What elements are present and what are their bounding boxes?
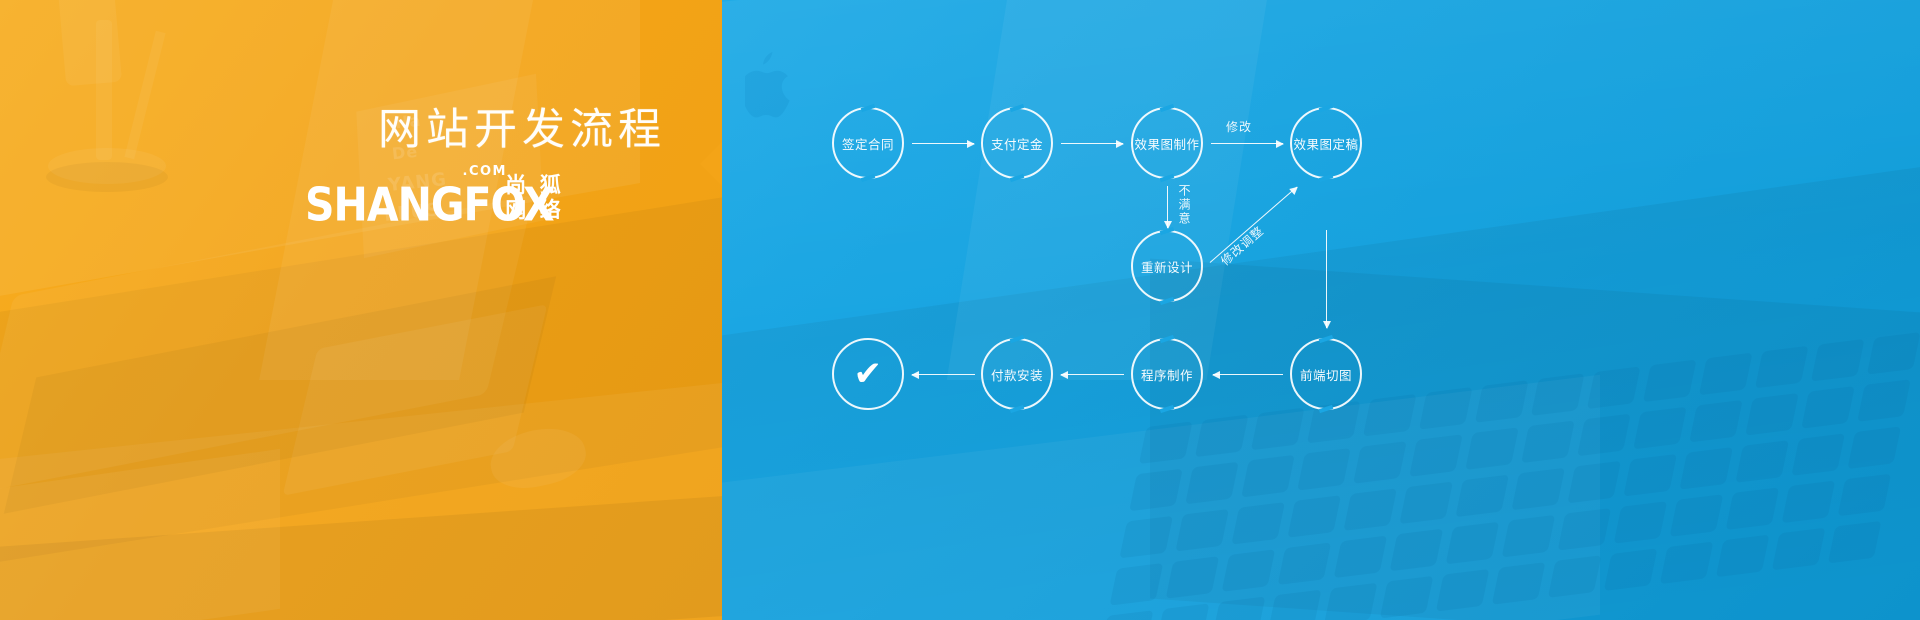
ring-gap bbox=[1010, 405, 1025, 413]
arrowhead-icon bbox=[967, 140, 975, 148]
flow-node-payment-install[interactable]: 付款安装 bbox=[981, 338, 1053, 410]
ring-gap bbox=[1010, 174, 1025, 182]
arrowhead-icon bbox=[1289, 183, 1300, 194]
flow-node-label: 前端切图 bbox=[1300, 365, 1352, 384]
ring-gap bbox=[1319, 335, 1334, 343]
flow-node-mockup-finalized[interactable]: 效果图定稿 bbox=[1290, 107, 1362, 179]
ring-gap bbox=[1010, 104, 1025, 112]
flow-node-complete[interactable]: ✔ bbox=[832, 338, 904, 410]
ring-gap bbox=[1319, 104, 1334, 112]
arrowhead-icon bbox=[1212, 371, 1220, 379]
flow-node-mockup-production[interactable]: 效果图制作 bbox=[1131, 107, 1203, 179]
ring-gap bbox=[1319, 405, 1334, 413]
arrow-design-to-redesign bbox=[1167, 186, 1168, 228]
check-icon: ✔ bbox=[854, 357, 883, 391]
flow-node-label: 效果图制作 bbox=[1134, 134, 1199, 153]
edge-label-unsatisfied: 不满意 bbox=[1176, 184, 1193, 226]
ring-gap bbox=[1010, 335, 1025, 343]
ring-gap bbox=[1160, 405, 1175, 413]
banner: Ha De YANG FEUS 网站开发流程 .COM SHANGFOX 尚 狐… bbox=[0, 0, 1920, 620]
arrow-sign-to-pay bbox=[912, 143, 974, 144]
ring-gap bbox=[861, 174, 876, 182]
arrow-frontend-to-program bbox=[1213, 374, 1283, 375]
arrow-pay-to-design bbox=[1061, 143, 1123, 144]
flow-node-label: 签定合同 bbox=[842, 134, 894, 153]
flow-node-pay-deposit[interactable]: 支付定金 bbox=[981, 107, 1053, 179]
flow-node-label: 付款安装 bbox=[991, 365, 1043, 384]
flow-node-redesign[interactable]: 重新设计 bbox=[1131, 230, 1203, 302]
ring-gap bbox=[1160, 297, 1175, 305]
ring-gap bbox=[1160, 104, 1175, 112]
arrowhead-icon bbox=[1323, 321, 1331, 329]
ring-gap bbox=[861, 104, 876, 112]
edge-label-adjust: 修改调整 bbox=[1217, 222, 1267, 269]
arrow-program-to-payment bbox=[1061, 374, 1124, 375]
flow-node-label: 支付定金 bbox=[991, 134, 1043, 153]
flow-node-label: 重新设计 bbox=[1141, 257, 1193, 276]
flow-node-sign-contract[interactable]: 签定合同 bbox=[832, 107, 904, 179]
flow-node-frontend-slicing[interactable]: 前端切图 bbox=[1290, 338, 1362, 410]
flow-node-label: 效果图定稿 bbox=[1293, 134, 1358, 153]
arrowhead-icon bbox=[1060, 371, 1068, 379]
edge-label-revise: 修改 bbox=[1226, 118, 1252, 135]
flow-node-program-development[interactable]: 程序制作 bbox=[1131, 338, 1203, 410]
ring-gap bbox=[1160, 335, 1175, 343]
ring-gap bbox=[1160, 174, 1175, 182]
flowchart: 修改 不满意 修改调整 签定合同 bbox=[0, 0, 1920, 620]
arrow-payment-to-done bbox=[912, 374, 975, 375]
arrowhead-icon bbox=[1276, 140, 1284, 148]
arrowhead-icon bbox=[1116, 140, 1124, 148]
arrow-design-to-final bbox=[1211, 143, 1283, 144]
ring-gap bbox=[1319, 174, 1334, 182]
arrow-final-to-frontend bbox=[1326, 230, 1327, 328]
ring-gap bbox=[1160, 227, 1175, 235]
flow-node-label: 程序制作 bbox=[1141, 365, 1193, 384]
arrowhead-icon bbox=[911, 371, 919, 379]
